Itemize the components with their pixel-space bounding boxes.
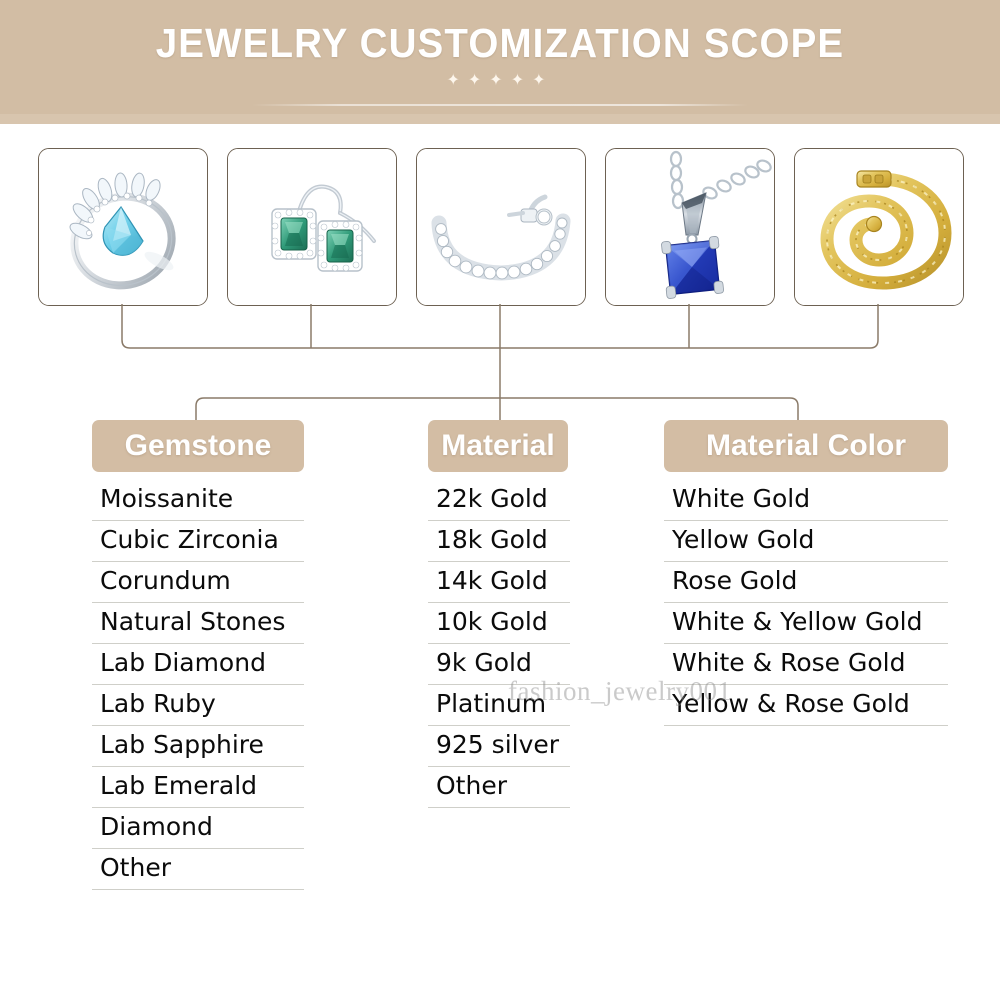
list-item[interactable]: Yellow Gold [664, 527, 948, 562]
sparkle-icon: ✦ [489, 72, 510, 88]
list-item-label: Cubic Zirconia [100, 525, 279, 554]
list-item[interactable]: 22k Gold [428, 486, 568, 521]
list-item-label: Lab Emerald [100, 771, 257, 800]
list-item-label: White & Rose Gold [672, 648, 905, 677]
list-item[interactable]: Diamond [92, 814, 304, 849]
list-item[interactable]: Natural Stones [92, 609, 304, 644]
category-column-gemstone: Gemstone Moissanite Cubic Zirconia Corun… [92, 420, 304, 896]
star-decoration: ✦✦✦✦✦ [0, 72, 1000, 88]
list-item-label: Lab Sapphire [100, 730, 264, 759]
list-item-label: 10k Gold [436, 607, 548, 636]
list-item[interactable]: Lab Diamond [92, 650, 304, 685]
list-item-label: White Gold [672, 484, 810, 513]
ring-image [39, 149, 207, 305]
list-item-rule [428, 561, 570, 562]
earrings-image [228, 149, 396, 305]
list-item-label: 14k Gold [436, 566, 548, 595]
product-card-row [0, 148, 1000, 304]
list-item-label: 22k Gold [436, 484, 548, 513]
chain-image [795, 149, 963, 305]
list-item[interactable]: 10k Gold [428, 609, 568, 644]
list-item-label: Yellow Gold [672, 525, 814, 554]
list-item-label: 925 silver [436, 730, 559, 759]
list-item-rule [664, 643, 948, 644]
list-item-rule [428, 725, 570, 726]
header-divider [252, 104, 748, 106]
wire-ring [122, 304, 130, 348]
category-list-gemstone: Moissanite Cubic Zirconia Corundum Natur… [92, 486, 304, 890]
necklace-image [606, 149, 774, 305]
wire-chain [870, 304, 878, 348]
list-item-rule [92, 889, 304, 890]
sparkle-icon: ✦ [511, 72, 532, 88]
list-item-label: Lab Diamond [100, 648, 266, 677]
list-item-rule [92, 561, 304, 562]
list-item-label: Lab Ruby [100, 689, 216, 718]
list-item[interactable]: 18k Gold [428, 527, 568, 562]
sparkle-icon: ✦ [468, 72, 489, 88]
category-heading-gemstone: Gemstone [92, 420, 304, 472]
list-item-rule [664, 725, 948, 726]
list-item-label: Corundum [100, 566, 231, 595]
list-item-label: Moissanite [100, 484, 233, 513]
list-item-rule [92, 848, 304, 849]
list-item[interactable]: White & Yellow Gold [664, 609, 948, 644]
sparkle-icon: ✦ [532, 72, 553, 88]
list-item-rule [92, 520, 304, 521]
list-item[interactable]: Corundum [92, 568, 304, 603]
product-card-chain[interactable] [794, 148, 964, 306]
list-item[interactable]: Lab Emerald [92, 773, 304, 808]
wire-lower-bus [196, 398, 798, 420]
list-item[interactable]: Other [92, 855, 304, 890]
list-item[interactable]: Lab Sapphire [92, 732, 304, 767]
sparkle-icon: ✦ [446, 72, 467, 88]
list-item-rule [92, 602, 304, 603]
list-item-rule [664, 561, 948, 562]
product-card-earrings[interactable] [227, 148, 397, 306]
watermark: fashion_jewelry001 [508, 676, 731, 707]
list-item-rule [428, 602, 570, 603]
list-item-label: Natural Stones [100, 607, 285, 636]
list-item-label: Other [100, 853, 171, 882]
infographic-page: JEWELRY CUSTOMIZATION SCOPE ✦✦✦✦✦ [0, 0, 1000, 1000]
list-item-rule [92, 684, 304, 685]
list-item[interactable]: Lab Ruby [92, 691, 304, 726]
list-item-rule [428, 807, 570, 808]
list-item-rule [428, 520, 570, 521]
page-title: JEWELRY CUSTOMIZATION SCOPE [30, 20, 970, 67]
category-heading-material: Material [428, 420, 568, 472]
header-base-strip [0, 114, 1000, 124]
list-item[interactable]: Rose Gold [664, 568, 948, 603]
product-card-necklace[interactable] [605, 148, 775, 306]
list-item-label: Other [436, 771, 507, 800]
list-item[interactable]: Cubic Zirconia [92, 527, 304, 562]
list-item[interactable]: Other [428, 773, 568, 808]
product-card-ring[interactable] [38, 148, 208, 306]
list-item-rule [92, 725, 304, 726]
list-item-rule [428, 766, 570, 767]
list-item-rule [428, 643, 570, 644]
list-item-rule [92, 766, 304, 767]
bracelet-image [417, 149, 585, 305]
list-item[interactable]: Moissanite [92, 486, 304, 521]
list-item[interactable]: 14k Gold [428, 568, 568, 603]
list-item-label: Diamond [100, 812, 213, 841]
header-banner: JEWELRY CUSTOMIZATION SCOPE ✦✦✦✦✦ [0, 0, 1000, 124]
list-item[interactable]: 925 silver [428, 732, 568, 767]
list-item-label: 9k Gold [436, 648, 532, 677]
category-list-material: 22k Gold 18k Gold 14k Gold 10k Gold 9k G… [428, 486, 568, 808]
product-card-bracelet[interactable] [416, 148, 586, 306]
list-item-rule [92, 807, 304, 808]
category-column-material: Material 22k Gold 18k Gold 14k Gold 10k … [428, 420, 568, 814]
list-item-rule [664, 520, 948, 521]
list-item-label: White & Yellow Gold [672, 607, 922, 636]
list-item[interactable]: White Gold [664, 486, 948, 521]
category-heading-material-color: Material Color [664, 420, 948, 472]
list-item-rule [664, 602, 948, 603]
list-item-label: 18k Gold [436, 525, 548, 554]
list-item-label: Rose Gold [672, 566, 797, 595]
list-item-rule [92, 643, 304, 644]
